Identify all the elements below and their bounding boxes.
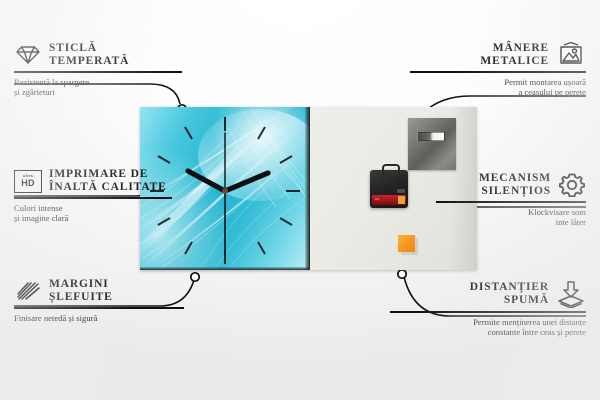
- callout-title-line1: MÂNERE: [480, 42, 549, 55]
- callout-title-line1: MECANISM: [479, 172, 551, 185]
- callout-title-line1: IMPRIMARE DE: [49, 168, 167, 181]
- callout-desc-line1: Klockvisare som: [436, 207, 586, 218]
- callout-title-line2: SILENȚIOS: [479, 185, 551, 198]
- battery-label: AA: [375, 197, 379, 201]
- callout-silent-mechanism: MECANISM SILENȚIOS Klockvisare som inte …: [436, 172, 586, 228]
- callout-head: MÂNERE METALICE: [410, 42, 586, 68]
- callout-rule: [14, 197, 172, 199]
- callout-title-line2: TEMPERATĂ: [49, 55, 129, 68]
- callout-desc-line1: Culori intense: [14, 203, 172, 214]
- callout-desc-line2: și imagine clară: [14, 213, 172, 224]
- product-image: AA: [140, 107, 477, 277]
- callout-rule: [410, 71, 586, 73]
- callout-rule: [436, 201, 586, 203]
- callout-title-line2: SPUMĂ: [470, 294, 549, 307]
- foam-spacer-pad: [398, 235, 415, 252]
- callout-rule: [14, 307, 184, 309]
- infographic-canvas: AA STICLĂ TEMPERATĂ Rezistentă la sp: [0, 0, 600, 400]
- callout-desc-line2: a ceasului pe perete: [410, 87, 586, 98]
- metal-hanger-plate: [408, 118, 456, 170]
- gear-icon: [558, 172, 586, 198]
- callout-title-line2: ÎNALTĂ CALITATE: [49, 181, 167, 194]
- movement-loop: [382, 164, 400, 175]
- hands-hub: [222, 188, 228, 194]
- callout-title-line1: STICLĂ: [49, 42, 129, 55]
- quartz-movement: AA: [370, 170, 408, 208]
- callout-high-quality-print: ultra HD IMPRIMARE DE ÎNALTĂ CALITATE Cu…: [14, 168, 172, 224]
- battery-plus-terminal: [398, 196, 405, 204]
- callout-desc-line1: Finisare netedă și sigură: [14, 313, 184, 324]
- callout-metal-handles: MÂNERE METALICE Permit montarea ușoară a…: [410, 42, 586, 98]
- minute-hand: [188, 171, 225, 191]
- movement-dial: [397, 189, 405, 193]
- callout-title-line1: MARGINI: [49, 278, 113, 291]
- callout-head: MARGINI ȘLEFUITE: [14, 278, 184, 304]
- polished-edges-icon: [14, 280, 42, 302]
- callout-desc-line2: constante între ceas și perete: [390, 327, 586, 338]
- picture-hanger-icon: [556, 42, 586, 68]
- hour-hand: [225, 173, 268, 191]
- callout-foam-spacer: DISTANȚIER SPUMĂ Permite menținerea unei…: [390, 280, 586, 338]
- hanger-slot: [417, 132, 445, 141]
- callout-desc-line2: inte låter: [436, 217, 586, 228]
- callout-title-line2: ȘLEFUITE: [49, 291, 113, 304]
- callout-desc-line1: Permite menținerea unei distanțe: [390, 317, 586, 328]
- callout-head: MECANISM SILENȚIOS: [436, 172, 586, 198]
- callout-rule: [14, 71, 182, 73]
- callout-desc-line1: Rezistentă la spargere: [14, 77, 182, 88]
- foam-spacer-icon: [556, 280, 586, 308]
- callout-polished-edges: MARGINI ȘLEFUITE Finisare netedă și sigu…: [14, 278, 184, 323]
- callout-head: ultra HD IMPRIMARE DE ÎNALTĂ CALITATE: [14, 168, 172, 194]
- callout-head: DISTANȚIER SPUMĂ: [390, 280, 586, 308]
- callout-title-line2: METALICE: [480, 55, 549, 68]
- callout-desc-line2: și zgârieturi: [14, 87, 182, 98]
- glass-bottom-edge: [140, 267, 310, 270]
- callout-desc-line1: Permit montarea ușoară: [410, 77, 586, 88]
- diamond-icon: [14, 44, 42, 66]
- ultra-hd-icon-main: HD: [21, 179, 34, 188]
- callout-tempered-glass: STICLĂ TEMPERATĂ Rezistentă la spargere …: [14, 42, 182, 98]
- callout-title-line1: DISTANȚIER: [470, 281, 549, 294]
- callout-rule: [390, 311, 586, 313]
- callout-head: STICLĂ TEMPERATĂ: [14, 42, 182, 68]
- battery: AA: [372, 195, 406, 205]
- ultra-hd-icon: ultra HD: [14, 170, 42, 193]
